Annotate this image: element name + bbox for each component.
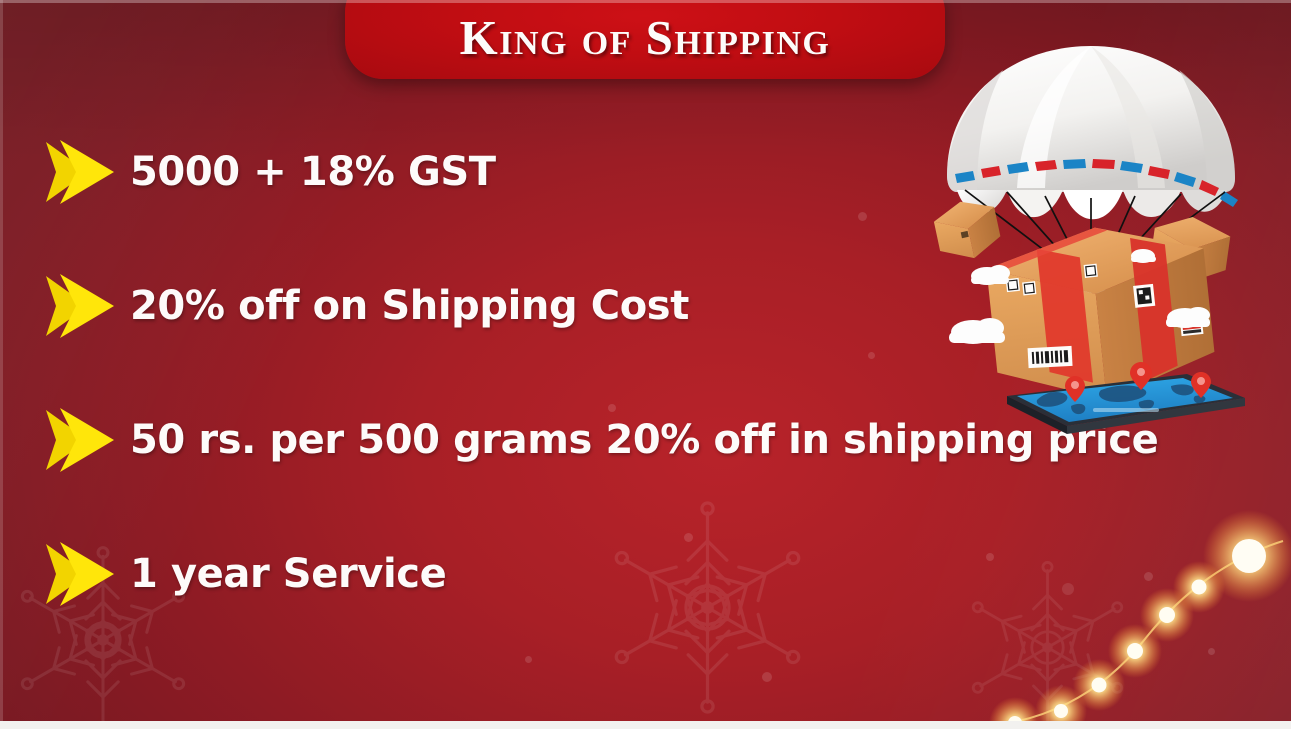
bottom-edge: [0, 721, 1291, 729]
list-item-label: 1 year Service: [130, 551, 446, 597]
promotional-banner: King of Shipping 5000 + 18% GST 20% off …: [0, 0, 1291, 729]
double-chevron-right-icon: [42, 136, 122, 208]
double-chevron-right-icon: [42, 270, 122, 342]
double-chevron-right-icon: [42, 404, 122, 476]
page-title: King of Shipping: [460, 9, 831, 79]
top-edge: [0, 0, 1291, 3]
double-chevron-right-icon: [42, 538, 122, 610]
qr-code-label: [1133, 284, 1155, 308]
cloud-icon: [949, 318, 1005, 344]
cloud-icon: [971, 265, 1010, 285]
left-edge: [0, 0, 3, 729]
title-badge: King of Shipping: [345, 0, 945, 79]
string-lights-icon: [931, 499, 1291, 729]
shipping-illustration: [895, 40, 1291, 460]
list-item-label: 20% off on Shipping Cost: [130, 283, 689, 329]
list-item-label: 5000 + 18% GST: [130, 149, 496, 195]
